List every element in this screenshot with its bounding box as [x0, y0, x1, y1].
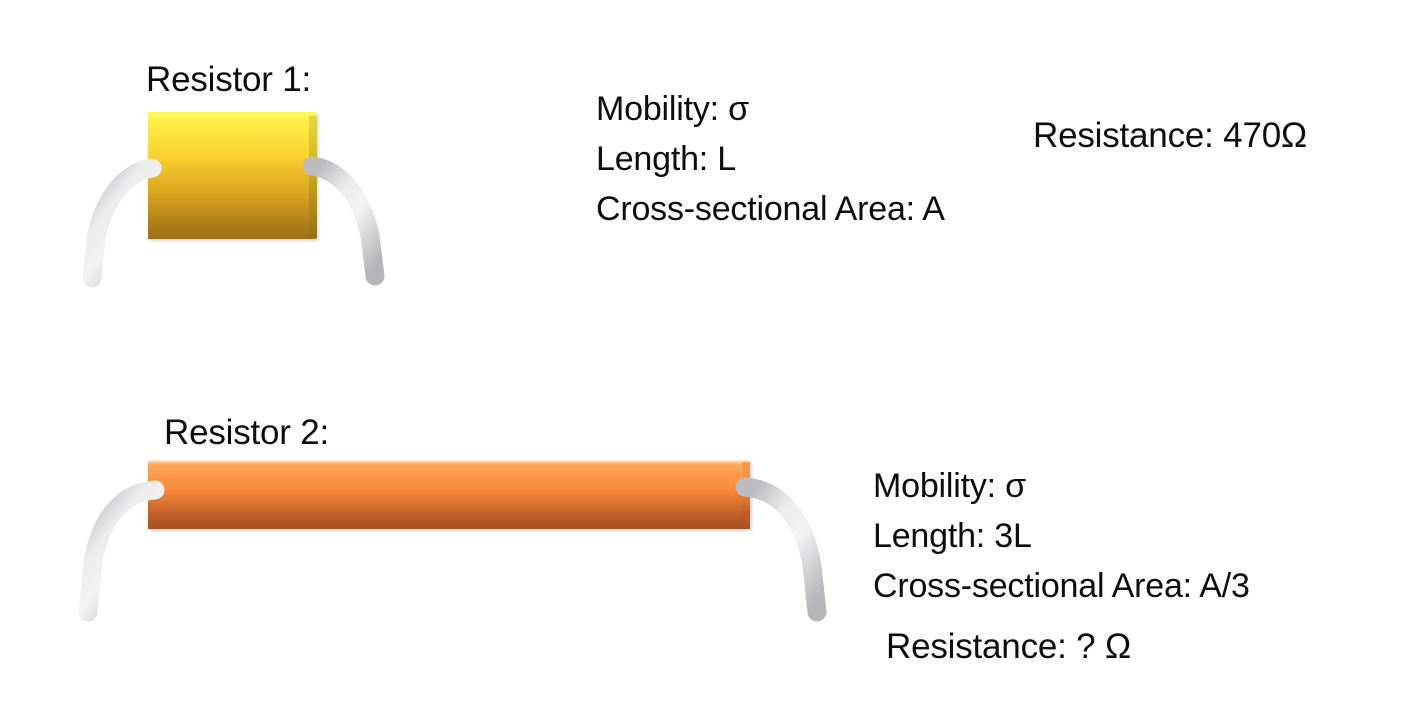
resistor1-left-lead	[92, 168, 152, 278]
resistor2-title: Resistor 2:	[164, 411, 329, 455]
resistor2-body	[148, 460, 750, 529]
resistor1-right-lead	[312, 166, 375, 276]
resistor2-mobility: Mobility: σ	[873, 461, 1250, 511]
resistor2-right-cap	[742, 462, 750, 528]
resistor1-title: Resistor 1:	[146, 58, 311, 102]
resistor2-properties: Mobility: σ Length: 3L Cross-sectional A…	[873, 461, 1250, 611]
resistor2-left-lead	[88, 490, 155, 612]
resistor1-body	[148, 112, 316, 239]
resistor2-length: Length: 3L	[873, 511, 1250, 561]
resistor1-length: Length: L	[596, 134, 945, 184]
resistor2-right-lead	[745, 487, 817, 612]
resistor1-area: Cross-sectional Area: A	[596, 184, 945, 234]
resistor1-properties: Mobility: σ Length: L Cross-sectional Ar…	[596, 84, 945, 234]
resistor2-resistance-value: Resistance: ? Ω	[886, 625, 1131, 669]
resistor1-right-cap	[309, 116, 317, 238]
resistor2-area: Cross-sectional Area: A/3	[873, 561, 1250, 611]
resistor1-mobility: Mobility: σ	[596, 84, 945, 134]
resistor1-resistance-value: Resistance: 470Ω	[1033, 114, 1307, 158]
resistor-comparison-diagram: Resistor 1: Mobility: σ Length: L Cross-…	[0, 0, 1416, 712]
